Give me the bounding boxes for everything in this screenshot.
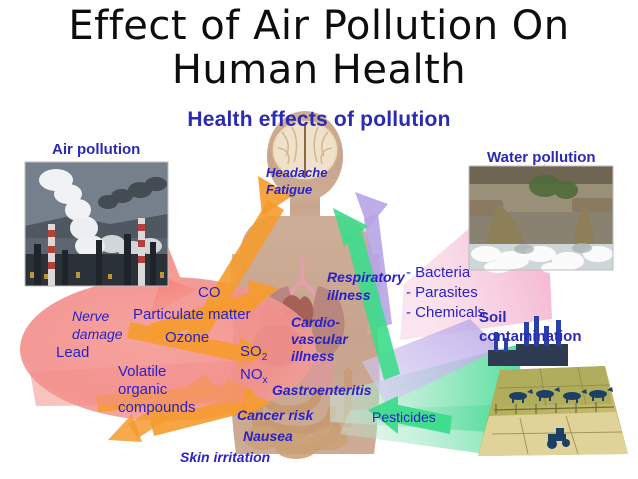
title-line-1: Effect of Air Pollution On (68, 3, 569, 49)
slide-root: Effect of Air Pollution On Human Health (0, 0, 638, 479)
effect-skin-irritation: Skin irritation (180, 449, 270, 465)
page-title: Effect of Air Pollution On Human Health (0, 4, 638, 92)
pollutant-nox-text: NO (240, 366, 263, 383)
effect-cardio-line-3: illness (291, 348, 335, 364)
pollutant-pesticides: Pesticides (372, 409, 436, 425)
effect-nerve-line-1: Nerve (72, 308, 109, 324)
diagram-header: Health effects of pollution (0, 108, 638, 132)
pollutant-nox-sub: x (263, 375, 268, 386)
effect-cardiovascular-illness: Cardio- vascular illness (291, 314, 363, 365)
effect-nerve-damage: Nerve damage (72, 307, 152, 343)
source-label-air-pollution: Air pollution (52, 141, 140, 158)
pollutant-so2-sub: 2 (262, 352, 268, 363)
pollutant-co: CO (198, 284, 221, 301)
water-contaminant-chemicals: - Chemicals (406, 304, 485, 321)
effect-cardio-line-2: vascular (291, 331, 348, 347)
water-pollution-photo (469, 166, 613, 274)
source-label-water-pollution: Water pollution (487, 149, 596, 166)
water-contaminant-list: - Bacteria - Parasites - Chemicals (406, 263, 521, 323)
pollutant-ozone: Ozone (165, 329, 209, 346)
effect-respiratory-illness: Respiratory illness (327, 268, 405, 304)
effect-nerve-line-2: damage (72, 326, 123, 342)
water-contaminant-bacteria: - Bacteria (406, 264, 470, 281)
effect-headache: Headache (266, 165, 327, 180)
effect-respiratory-line-2: illness (327, 287, 371, 303)
pollutant-volatile-organic-compounds: Volatile organic compounds (118, 363, 198, 417)
title-line-2: Human Health (0, 48, 638, 92)
soil-label-line-2: contamination (479, 328, 582, 345)
pollutant-so2-text: SO (240, 343, 262, 360)
air-pollution-photo (25, 162, 168, 286)
water-contaminant-parasites: - Parasites (406, 284, 478, 301)
effect-respiratory-line-1: Respiratory (327, 269, 405, 285)
effect-nausea: Nausea (243, 428, 293, 444)
effect-cardio-line-1: Cardio- (291, 314, 340, 330)
pollutant-lead: Lead (56, 344, 89, 361)
effect-headache-fatigue: Headache Fatigue (266, 164, 356, 198)
pollution-health-infographic: Health effects of pollution Air pollutio… (0, 104, 638, 479)
effect-fatigue: Fatigue (266, 182, 312, 197)
pollutant-sox-nox: SO2 NOx (240, 343, 290, 389)
effect-cancer-risk: Cancer risk (237, 407, 313, 423)
